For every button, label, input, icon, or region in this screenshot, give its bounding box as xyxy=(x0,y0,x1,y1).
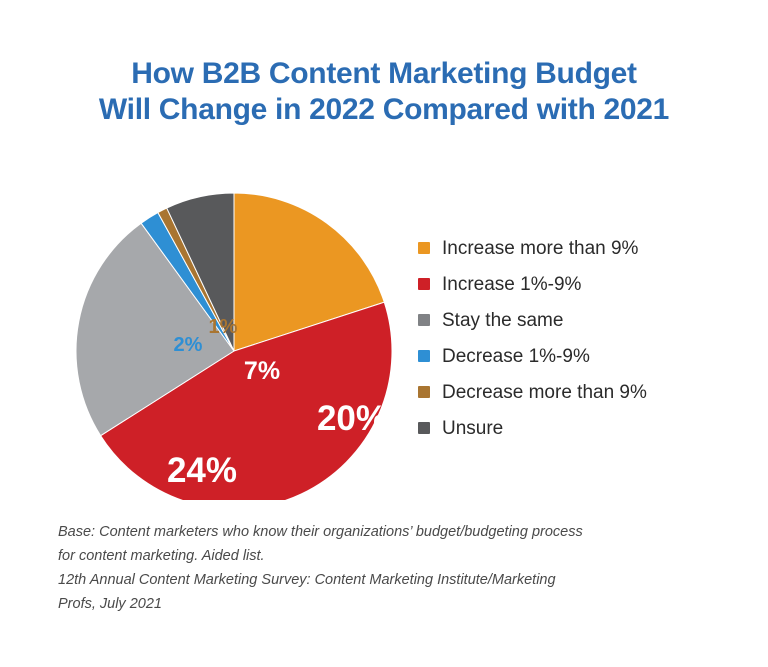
pie-value-label-increase-more-than-9: 20% xyxy=(317,399,387,438)
legend-item-3[interactable]: Decrease 1%-9% xyxy=(418,338,748,374)
legend-item-5[interactable]: Unsure xyxy=(418,410,748,446)
legend-item-2[interactable]: Stay the same xyxy=(418,302,748,338)
footnote-line-4: Profs, July 2021 xyxy=(58,592,678,616)
footnote-line-2: for content marketing. Aided list. xyxy=(58,544,678,568)
legend-swatch-icon xyxy=(418,386,430,398)
legend-item-label: Unsure xyxy=(442,419,503,438)
page-title: How B2B Content Marketing Budget Will Ch… xyxy=(0,56,768,128)
pie-value-label-stay-the-same: 24% xyxy=(167,451,237,490)
infographic-root: How B2B Content Marketing Budget Will Ch… xyxy=(0,0,768,667)
legend-item-label: Decrease 1%-9% xyxy=(442,347,590,366)
pie-value-label-decrease-1-to-9: 2% xyxy=(174,334,203,356)
legend-swatch-icon xyxy=(418,422,430,434)
page-title-line-2: Will Change in 2022 Compared with 2021 xyxy=(0,92,768,128)
legend-swatch-icon xyxy=(418,350,430,362)
page-title-line-1: How B2B Content Marketing Budget xyxy=(0,56,768,92)
legend-swatch-icon xyxy=(418,242,430,254)
chart-area: 20%46%24%2%1%7% Increase more than 9%Inc… xyxy=(0,140,768,500)
legend-item-label: Increase more than 9% xyxy=(442,239,638,258)
pie-chart-svg: 20%46%24%2%1%7% xyxy=(56,160,412,500)
pie-value-label-unsure: 7% xyxy=(244,357,280,385)
pie-value-label-decrease-more-than-9: 1% xyxy=(209,316,238,338)
legend-item-0[interactable]: Increase more than 9% xyxy=(418,230,748,266)
legend-item-label: Decrease more than 9% xyxy=(442,383,647,402)
legend-item-label: Stay the same xyxy=(442,311,563,330)
source-footnote: Base: Content marketers who know their o… xyxy=(58,520,678,616)
pie-chart: 20%46%24%2%1%7% xyxy=(56,160,412,500)
legend-swatch-icon xyxy=(418,278,430,290)
footnote-line-1: Base: Content marketers who know their o… xyxy=(58,520,678,544)
footnote-line-3: 12th Annual Content Marketing Survey: Co… xyxy=(58,568,678,592)
legend-item-4[interactable]: Decrease more than 9% xyxy=(418,374,748,410)
legend-item-label: Increase 1%-9% xyxy=(442,275,581,294)
legend-list: Increase more than 9%Increase 1%-9%Stay … xyxy=(418,230,748,446)
chart-legend: Increase more than 9%Increase 1%-9%Stay … xyxy=(418,230,748,446)
legend-swatch-icon xyxy=(418,314,430,326)
legend-item-1[interactable]: Increase 1%-9% xyxy=(418,266,748,302)
